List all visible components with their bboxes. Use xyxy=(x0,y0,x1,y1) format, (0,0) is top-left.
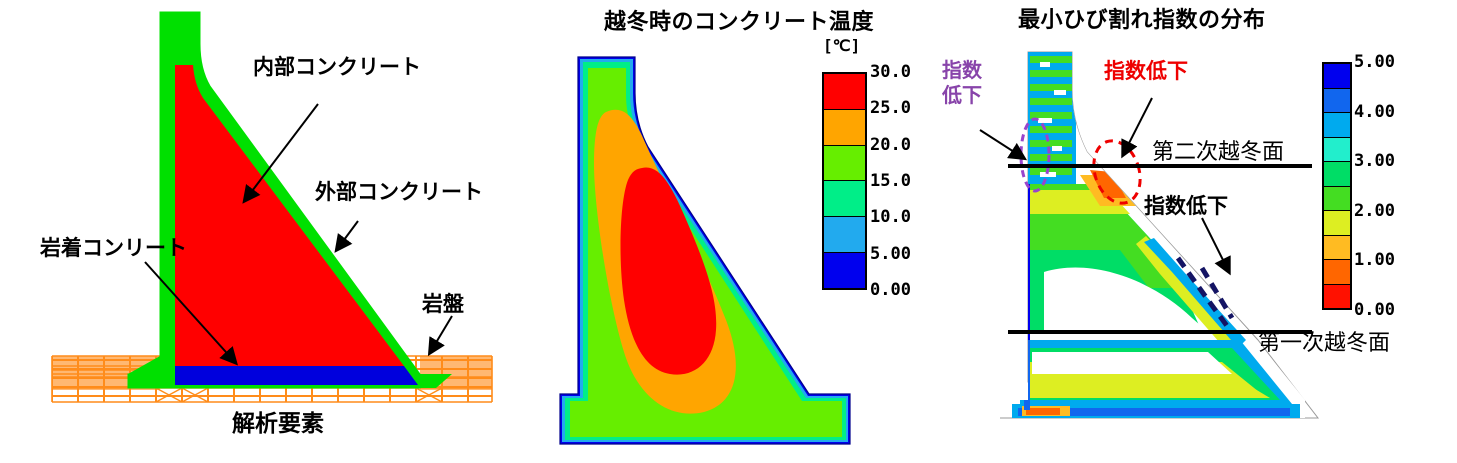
colorbar-tick-3: 15.0 xyxy=(870,171,911,191)
colorbar-band-2 xyxy=(1324,112,1350,137)
label-inner-concrete: 内部コンクリート xyxy=(253,51,421,81)
colorbar-tick-4: 10.0 xyxy=(870,207,911,227)
colorbar-tick-5: 5.00 xyxy=(870,244,911,264)
colorbar-tick-6: 0.00 xyxy=(870,280,911,300)
colorbar-tick-2: 20.0 xyxy=(870,135,911,155)
inner-concrete-shape xyxy=(175,65,404,366)
colorbar-band-0 xyxy=(1324,64,1350,88)
label-index-drop-purple-row1: 指数 xyxy=(942,58,982,83)
colorbar-band-4 xyxy=(1324,161,1350,186)
colorbar-band-9 xyxy=(1324,284,1350,309)
rock-bond-concrete-shape xyxy=(175,366,418,385)
title-cracking-index: 最小ひび割れ指数の分布 xyxy=(1018,2,1266,34)
colorbar-tick-3: 2.00 xyxy=(1354,201,1395,221)
colorbar-band-5 xyxy=(824,252,865,288)
panel-cracking-index: 最小ひび割れ指数の分布 xyxy=(940,0,1457,463)
label-bedrock: 岩盤 xyxy=(422,288,464,318)
cracking-index-colorbar-ticks: 5.004.003.002.001.000.00 xyxy=(1354,62,1434,310)
temperature-colorbar-unit: [℃] xyxy=(823,36,860,55)
colorbar-band-4 xyxy=(824,216,865,252)
label-rock-bond-concrete: 岩着コンリート xyxy=(40,232,187,262)
colorbar-band-0 xyxy=(824,74,865,109)
colorbar-tick-1: 4.00 xyxy=(1354,102,1395,122)
title-concrete-temperature: 越冬時のコンクリート温度 xyxy=(604,4,874,36)
label-index-drop-black: 指数低下 xyxy=(1144,190,1228,220)
colorbar-band-7 xyxy=(1324,235,1350,260)
colorbar-band-6 xyxy=(1324,210,1350,235)
label-outer-concrete: 外部コンクリート xyxy=(315,176,483,206)
label-index-drop-purple-row2: 低下 xyxy=(942,83,982,108)
label-index-drop-purple: 指数低下 xyxy=(942,58,982,108)
figure-root: 内部コンクリート 外部コンクリート 岩着コンリート 岩盤 解析要素 越冬時のコン… xyxy=(0,0,1457,463)
label-second-winter-face: 第二次越冬面 xyxy=(1152,134,1284,166)
colorbar-tick-0: 30.0 xyxy=(870,62,911,82)
panel-concrete-temperature: 越冬時のコンクリート温度 xyxy=(520,0,940,463)
temperature-colorbar xyxy=(822,72,867,290)
colorbar-tick-4: 1.00 xyxy=(1354,250,1395,270)
label-index-drop-purple-line1: 指数低下 xyxy=(942,58,982,108)
colorbar-band-2 xyxy=(824,145,865,181)
cracking-index-colorbar xyxy=(1322,62,1352,310)
label-index-drop-red: 指数低下 xyxy=(1104,55,1188,85)
colorbar-tick-2: 3.00 xyxy=(1354,151,1395,171)
temperature-colorbar-ticks: 30.025.020.015.010.05.000.00 xyxy=(870,72,940,290)
colorbar-band-3 xyxy=(1324,137,1350,162)
label-first-winter-face: 第一次越冬面 xyxy=(1258,325,1390,357)
panel-analysis-model: 内部コンクリート 外部コンクリート 岩着コンリート 岩盤 解析要素 xyxy=(0,0,520,463)
caption-analysis-element: 解析要素 xyxy=(232,404,324,438)
colorbar-band-1 xyxy=(824,109,865,145)
colorbar-tick-0: 5.00 xyxy=(1354,52,1395,72)
colorbar-band-8 xyxy=(1324,259,1350,284)
colorbar-tick-1: 25.0 xyxy=(870,98,911,118)
colorbar-band-1 xyxy=(1324,88,1350,113)
colorbar-tick-5: 0.00 xyxy=(1354,300,1395,320)
colorbar-band-5 xyxy=(1324,186,1350,211)
colorbar-band-3 xyxy=(824,180,865,216)
